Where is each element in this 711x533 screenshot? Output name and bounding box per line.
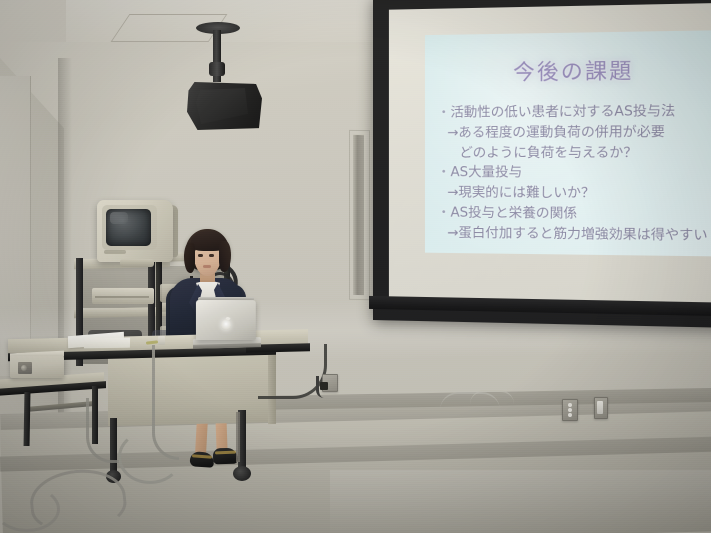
beige-device-knob[interactable]: [21, 365, 27, 371]
slide-line: AS大量投与: [437, 163, 711, 184]
outlet-slot: [597, 401, 603, 414]
presenter-eye-right: [209, 254, 214, 257]
thin-wall-cable: [470, 390, 514, 404]
slide-body: 活動性の低い患者に対するAS投与法 →ある程度の運動負荷の併用が必要 どのように…: [437, 101, 711, 246]
slide-line: どのように負荷を与えるか？: [437, 143, 711, 164]
slide-line: →ある程度の運動負荷の併用が必要: [437, 122, 711, 143]
floor-cable-loop: [118, 430, 182, 484]
jack-port[interactable]: [568, 413, 572, 417]
presenter-hair-side-left: [184, 243, 195, 273]
crt-control-strip[interactable]: [104, 250, 126, 254]
jack-port[interactable]: [568, 408, 572, 412]
floor-reflection: [330, 470, 711, 533]
projected-slide: 今後の課題 活動性の低い患者に対するAS投与法 →ある程度の運動負荷の併用が必要…: [425, 30, 711, 256]
table-brace: [236, 412, 240, 462]
lecture-room-photo: 今後の課題 活動性の低い患者に対するAS投与法 →ある程度の運動負荷の併用が必要…: [0, 0, 711, 533]
slide-line: AS投与と栄養の関係: [437, 203, 711, 226]
side-table-leg-left: [24, 392, 31, 446]
projection-screen: 今後の課題 活動性の低い患者に対するAS投与法 →ある程度の運動負荷の併用が必要…: [373, 0, 711, 328]
presenter-mouth: [203, 265, 211, 268]
crt-screen-glare: [110, 212, 128, 224]
screen-surface: 今後の課題 活動性の低い患者に対するAS投与法 →ある程度の運動負荷の併用が必要…: [389, 3, 711, 305]
crt-stand: [120, 259, 154, 267]
rack-equipment-seam: [95, 296, 149, 298]
floor-cable: [86, 398, 119, 463]
presenter-eye-left: [198, 254, 203, 257]
slide-line: →蛋白付加すると筋力増強効果は得やすい: [437, 223, 711, 246]
apple-logo-icon: [221, 319, 231, 330]
small-cup[interactable]: [158, 336, 165, 345]
slide-title: 今後の課題: [425, 53, 711, 87]
round-jack-wall-plate[interactable]: [562, 399, 578, 421]
power-plug[interactable]: [320, 382, 328, 390]
jack-port[interactable]: [568, 403, 572, 407]
table-apron: [108, 354, 276, 426]
slide-line: 活動性の低い患者に対するAS投与法: [437, 101, 711, 123]
paper-sheet[interactable]: [84, 338, 130, 349]
speaker-swivel-joint: [209, 62, 225, 76]
vertical-wall-recess: [353, 134, 364, 295]
table-caster-right: [233, 466, 251, 481]
slide-line: →現実的には難しいか？: [437, 183, 711, 205]
